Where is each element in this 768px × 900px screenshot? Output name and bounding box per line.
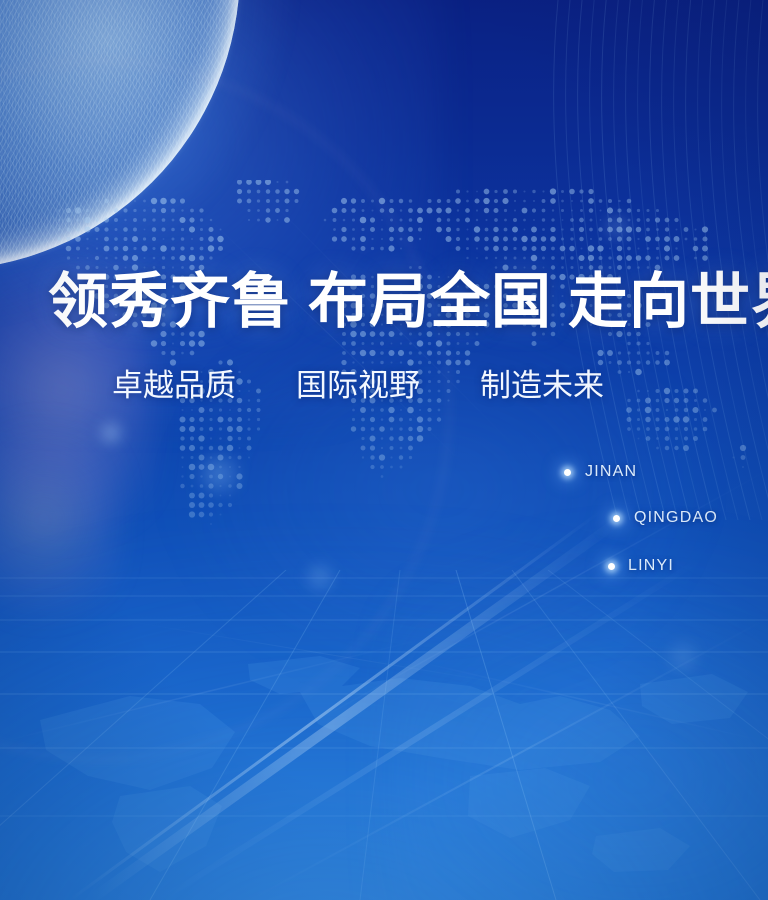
- headline: 领秀齐鲁布局全国走向世界: [48, 272, 768, 332]
- bokeh-light: [600, 210, 634, 244]
- ambient-glow-right: [388, 520, 768, 900]
- subheadline-part-1: 卓越品质: [112, 368, 236, 403]
- city-marker-jinan[interactable]: JINAN: [564, 463, 637, 481]
- headline-part-2: 布局全国: [308, 269, 552, 335]
- city-marker-qingdao[interactable]: QINGDAO: [613, 509, 718, 527]
- hero-banner: 领秀齐鲁布局全国走向世界 卓越品质国际视野制造未来 JINAN QINGDAO …: [0, 0, 768, 900]
- city-marker-dot-icon: [613, 515, 620, 522]
- city-marker-dot-icon: [564, 469, 571, 476]
- city-label-jinan: JINAN: [585, 463, 637, 481]
- city-label-linyi: LINYI: [628, 557, 674, 575]
- city-marker-dot-icon: [608, 563, 615, 570]
- lens-flare-warm-lower: [0, 420, 120, 620]
- subheadline-part-3: 制造未来: [480, 368, 604, 403]
- bokeh-light: [660, 640, 706, 674]
- city-marker-linyi[interactable]: LINYI: [608, 557, 674, 575]
- city-label-qingdao: QINGDAO: [634, 509, 718, 527]
- headline-part-1: 领秀齐鲁: [48, 269, 292, 335]
- subheadline: 卓越品质国际视野制造未来: [112, 370, 604, 401]
- headline-part-3: 走向世界: [568, 269, 768, 335]
- subheadline-part-2: 国际视野: [296, 368, 420, 403]
